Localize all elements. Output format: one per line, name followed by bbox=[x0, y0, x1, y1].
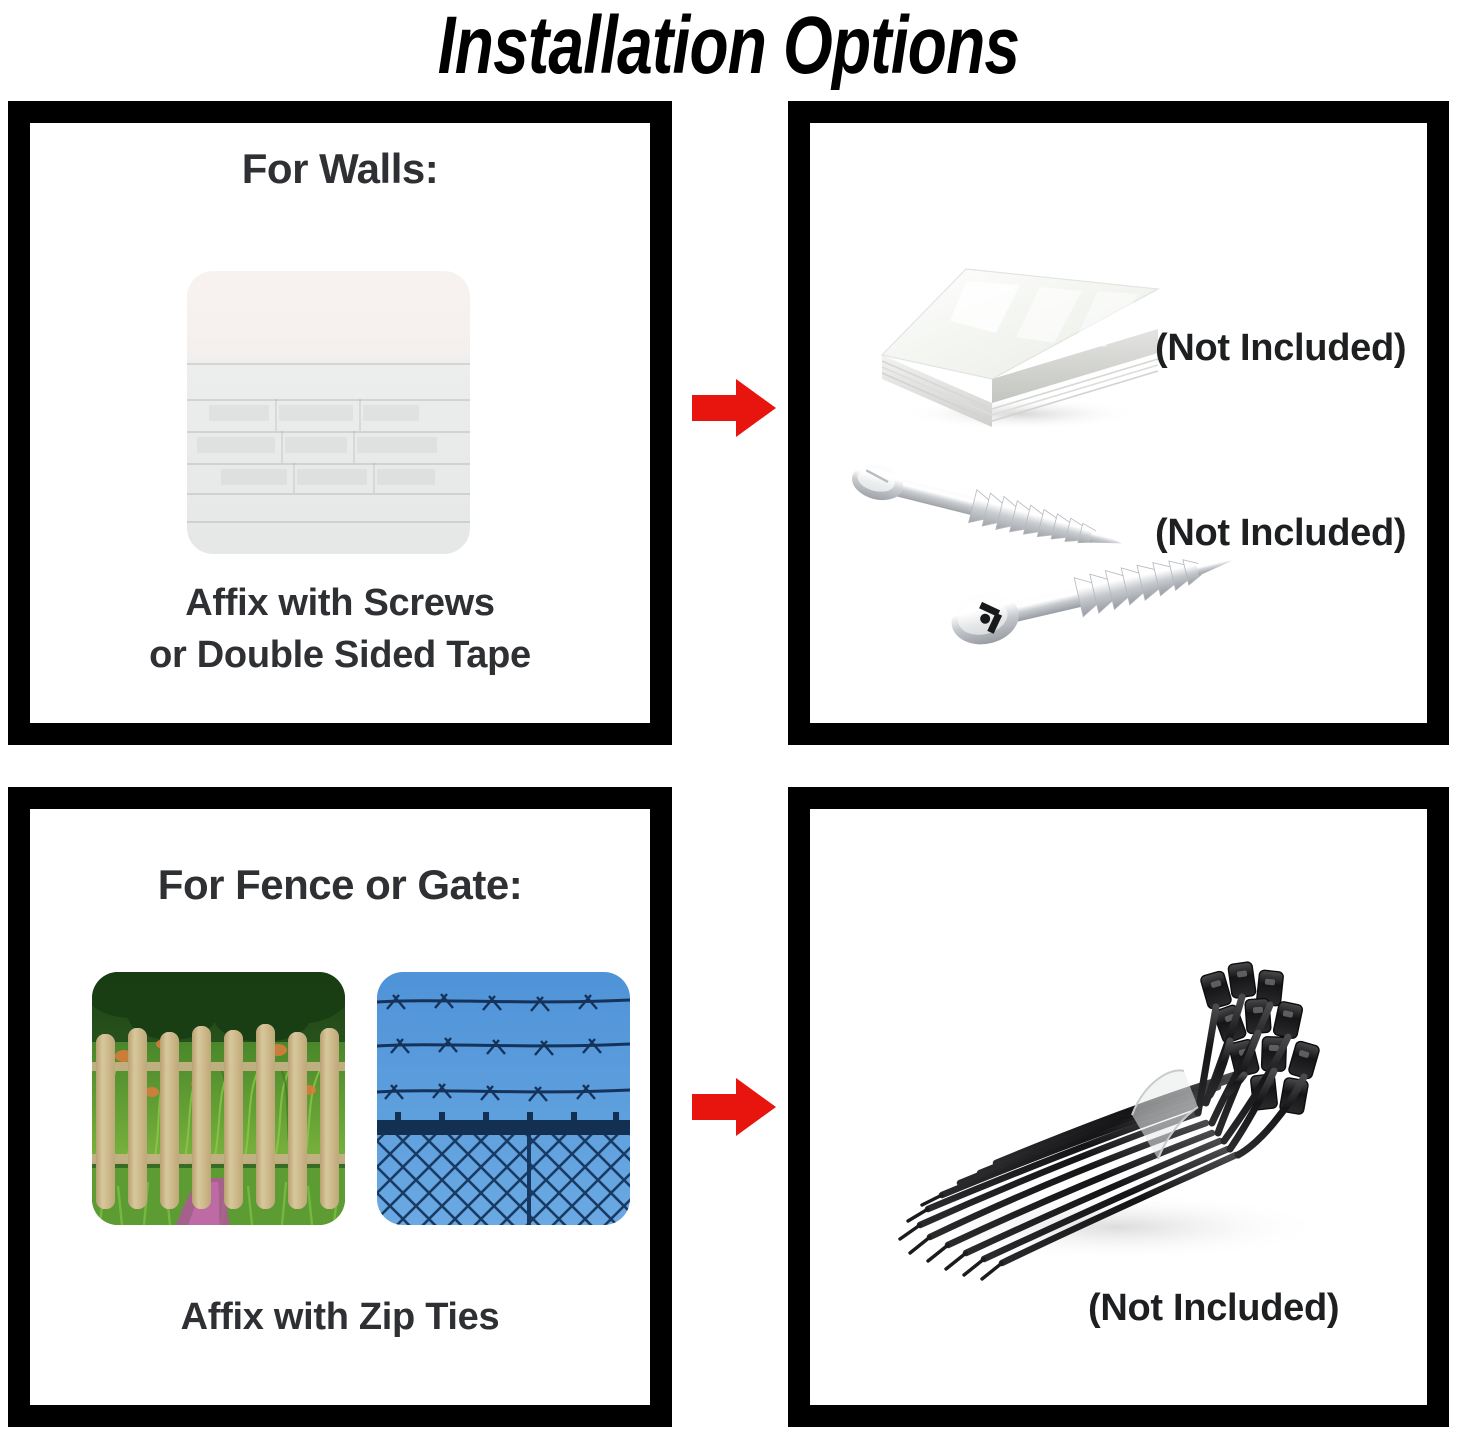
red-right-arrow-icon bbox=[692, 1076, 776, 1138]
caption-for-fence: Affix with Zip Ties bbox=[30, 1292, 650, 1343]
panel-for-fence-content: For Fence or Gate: bbox=[30, 809, 650, 1405]
wooden-picket-fence-photo bbox=[92, 972, 345, 1225]
white-brick-wall-photo bbox=[187, 271, 470, 554]
panel-wall-hardware: (Not Included) bbox=[788, 101, 1449, 745]
screw-not-included-label: (Not Included) bbox=[1155, 512, 1406, 555]
panel-fence-hardware: (Not Included) bbox=[788, 787, 1449, 1427]
panel-for-walls: For Walls: Affix with Scr bbox=[8, 101, 672, 745]
panel-for-walls-content: For Walls: Affix with Scr bbox=[30, 123, 650, 723]
chain-link-barbed-wire-fence-photo bbox=[377, 972, 630, 1225]
black-zip-tie-bundle-image bbox=[868, 937, 1368, 1307]
caption-for-walls-line1: Affix with Screws bbox=[30, 578, 650, 629]
panel-for-fence-or-gate: For Fence or Gate: bbox=[8, 787, 672, 1427]
caption-for-walls: Affix with Screws or Double Sided Tape bbox=[30, 578, 650, 681]
page-title: Installation Options bbox=[160, 0, 1296, 92]
zip-ties-not-included-label: (Not Included) bbox=[1088, 1287, 1339, 1330]
tape-not-included-label: (Not Included) bbox=[1155, 327, 1406, 370]
panel-wall-hardware-content: (Not Included) bbox=[810, 123, 1427, 723]
heading-for-fence-or-gate: For Fence or Gate: bbox=[30, 861, 650, 909]
double-sided-tape-stack-image bbox=[870, 251, 1170, 433]
caption-for-walls-line2: or Double Sided Tape bbox=[30, 630, 650, 681]
red-right-arrow-icon bbox=[692, 377, 776, 439]
panel-fence-hardware-content: (Not Included) bbox=[810, 809, 1427, 1405]
heading-for-walls: For Walls: bbox=[30, 145, 650, 193]
